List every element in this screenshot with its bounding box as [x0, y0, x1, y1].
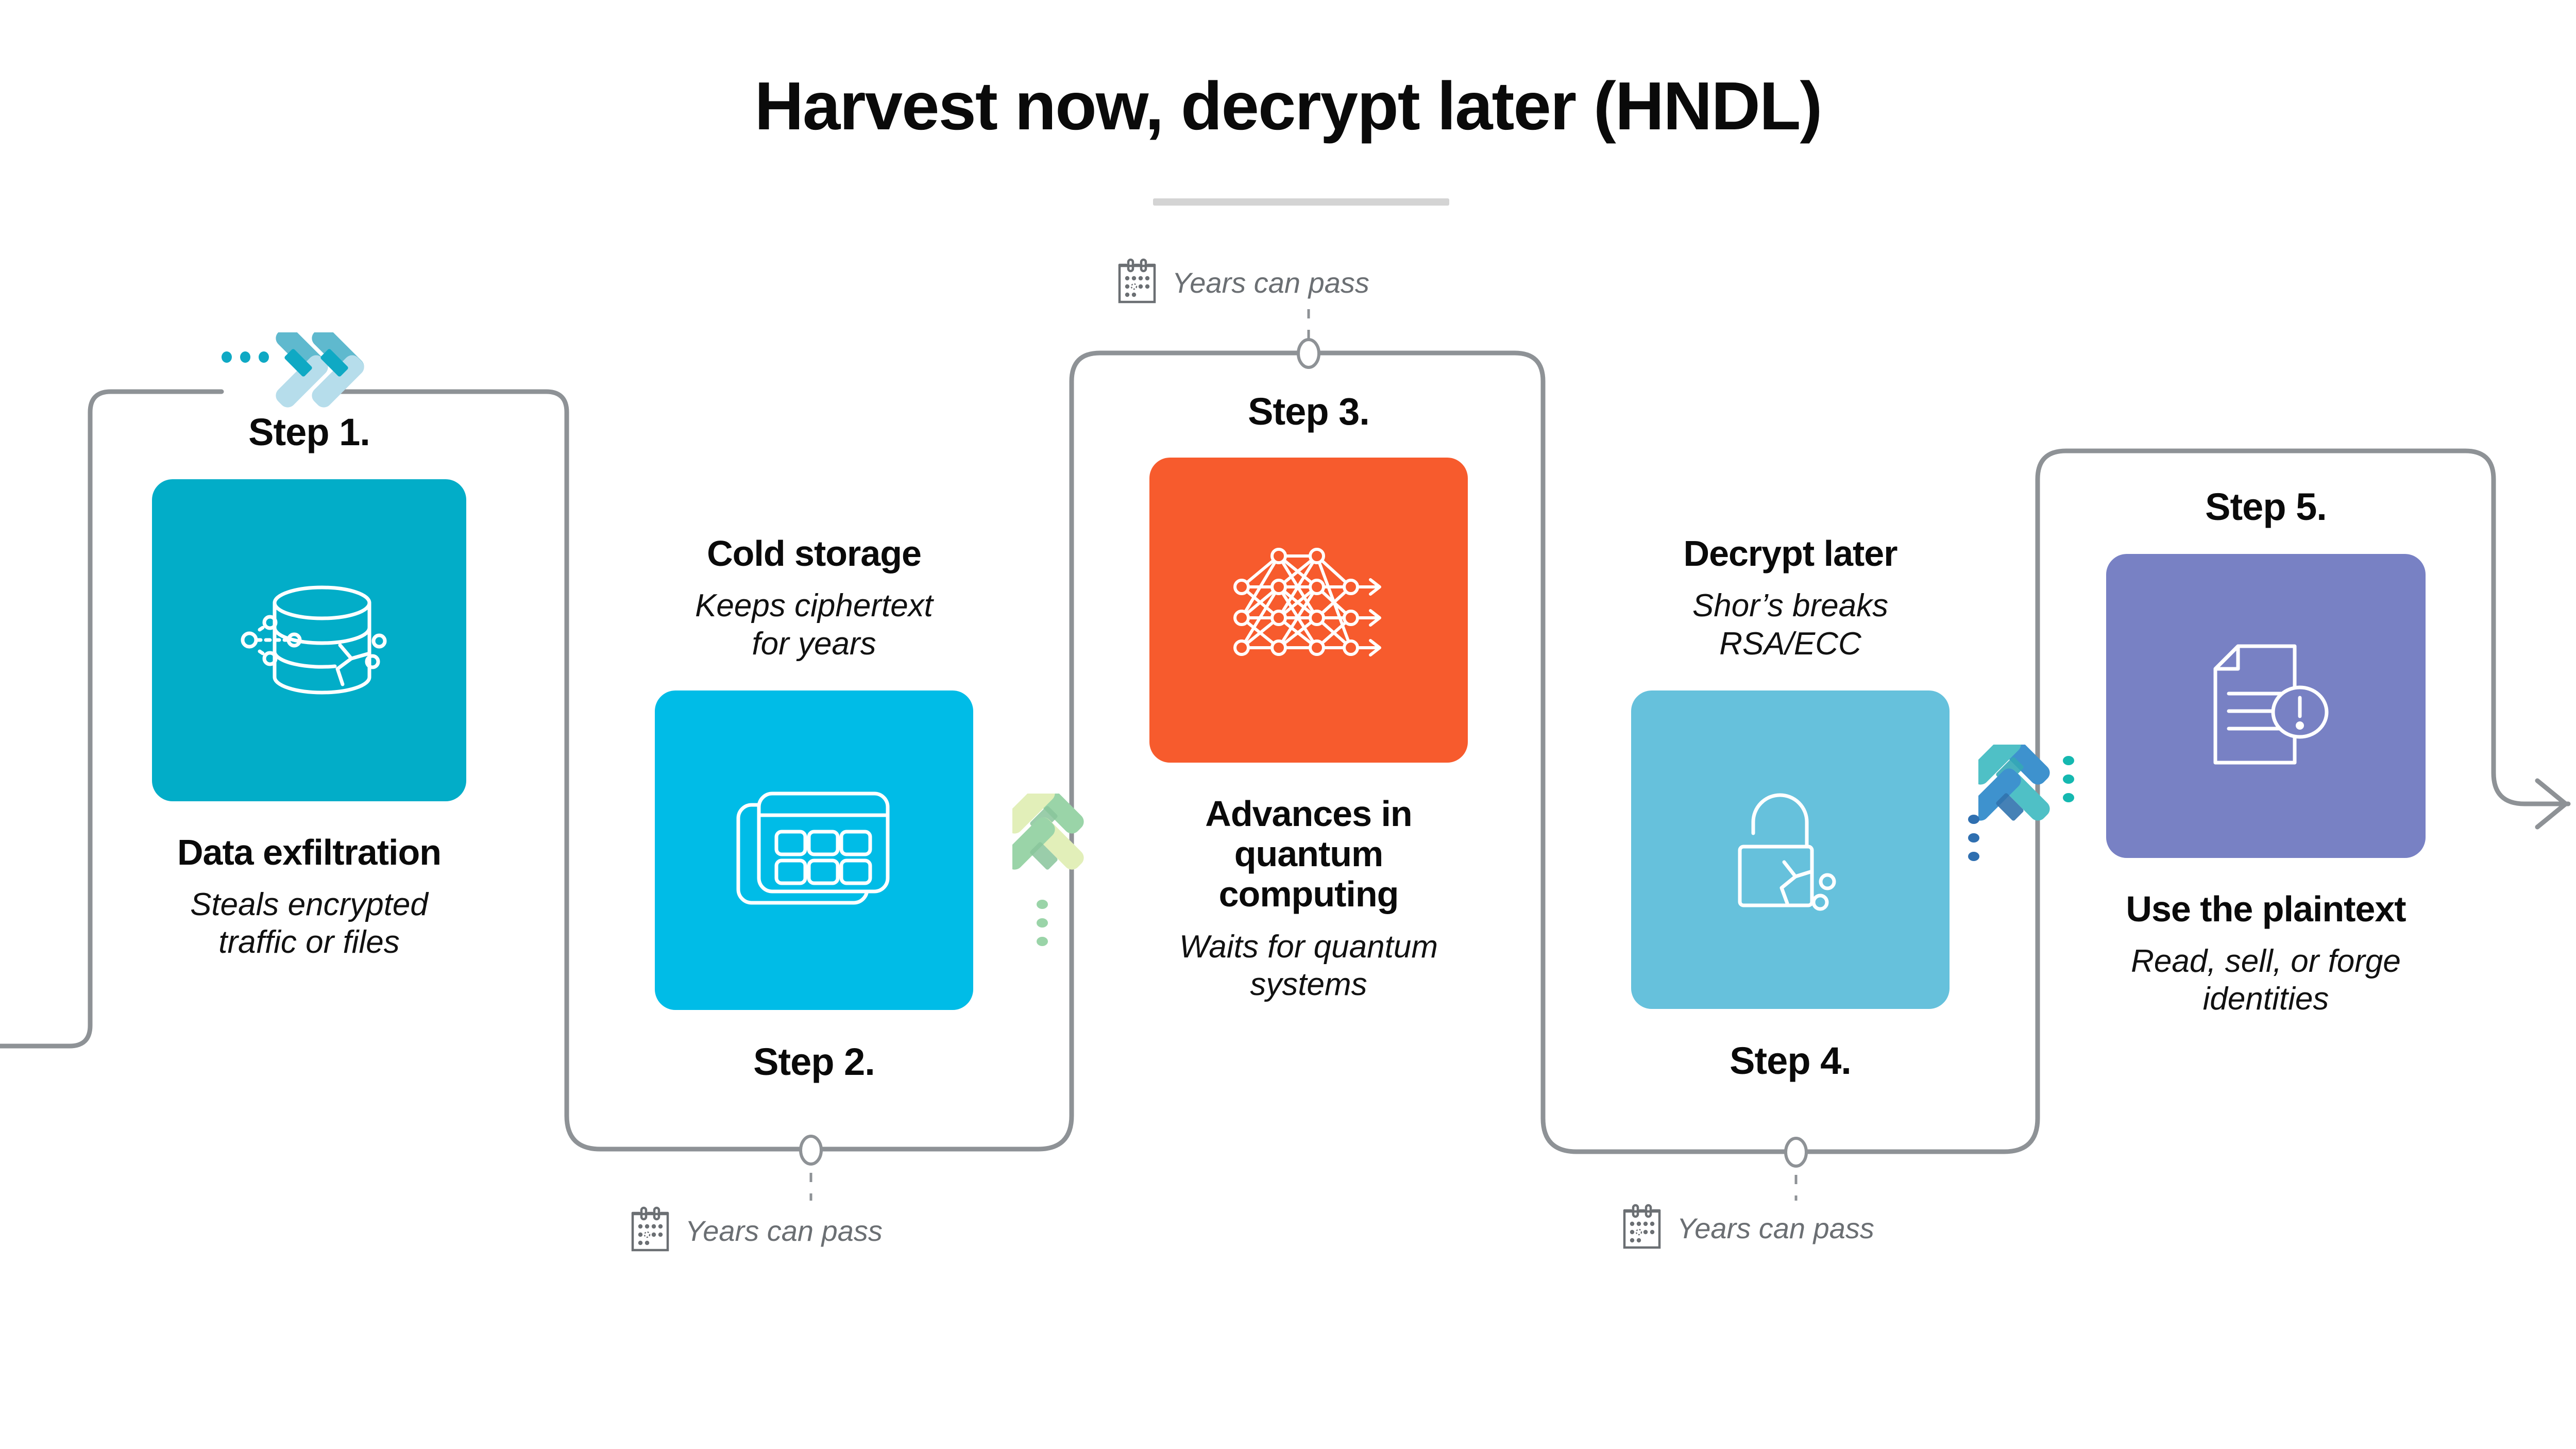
cracked-database-icon — [216, 563, 402, 717]
note-right: Years can pass — [1620, 1203, 1874, 1253]
step-1-subtitle: Steals encrypted traffic or files — [103, 886, 515, 961]
step-3-subtitle: Waits for quantum systems — [1103, 928, 1515, 1003]
step-2-tile[interactable] — [655, 690, 973, 1010]
step-5-group: Step 5. Use the plaintext Read, sell, or… — [2060, 487, 2472, 1018]
broken-padlock-icon — [1713, 772, 1868, 927]
step-1-heading: Data exfiltration — [103, 832, 515, 872]
step-5-heading: Use the plaintext — [2060, 889, 2472, 929]
note-marker-top — [1298, 340, 1319, 367]
step-1-group: Step 1. — [103, 412, 515, 961]
step-4-subtitle: Shor’s breaks RSA/ECC — [1584, 587, 1996, 662]
diagram-canvas: Harvest now, decrypt later (HNDL) — [0, 0, 2576, 1449]
step-2-subtitle: Keeps ciphertext for years — [608, 587, 1020, 662]
page-title: Harvest now, decrypt later (HNDL) — [0, 67, 2576, 145]
step-3-heading: Advances in quantum computing — [1103, 794, 1515, 915]
step-2-label: Step 2. — [608, 1042, 1020, 1082]
step-3-group: Step 3. — [1103, 392, 1515, 1003]
calendar-icon — [629, 1206, 672, 1256]
step-2-heading: Cold storage — [608, 533, 1020, 574]
step-1-label: Step 1. — [103, 412, 515, 452]
note-top: Years can pass — [1115, 258, 1369, 308]
step-5-tile[interactable] — [2106, 554, 2426, 858]
stacked-cards-grid-icon — [729, 778, 899, 922]
step-4-tile[interactable] — [1631, 690, 1950, 1009]
step-4-heading: Decrypt later — [1584, 533, 1996, 574]
step-4-group: Decrypt later Shor’s breaks RSA/ECC Step… — [1584, 533, 1996, 1081]
note-left: Years can pass — [629, 1206, 883, 1256]
step-1-tile[interactable] — [152, 479, 466, 801]
step-5-subtitle: Read, sell, or forge identities — [2060, 942, 2472, 1018]
document-alert-icon — [2189, 634, 2343, 778]
wire-arrowhead — [2537, 781, 2566, 827]
note-top-text: Years can pass — [1172, 266, 1369, 299]
calendar-icon — [1620, 1203, 1664, 1253]
chevron-right-teal — [273, 332, 371, 423]
calendar-icon — [1115, 258, 1159, 308]
note-marker-right — [1786, 1138, 1806, 1166]
step-3-label: Step 3. — [1103, 392, 1515, 432]
step-2-group: Cold storage Keeps ciphertext for years … — [608, 533, 1020, 1082]
chevron-teal-dots-icon — [222, 350, 269, 366]
note-right-text: Years can pass — [1677, 1211, 1874, 1245]
note-left-text: Years can pass — [685, 1214, 883, 1248]
chevron-green-dots-icon — [1036, 899, 1049, 949]
chevron-up-green — [1012, 794, 1105, 899]
title-divider — [1153, 198, 1449, 206]
note-marker-left — [801, 1136, 821, 1164]
step-5-label: Step 5. — [2060, 487, 2472, 527]
step-3-tile[interactable] — [1149, 458, 1468, 763]
neural-network-icon — [1221, 535, 1396, 685]
step-4-label: Step 4. — [1584, 1041, 1996, 1081]
